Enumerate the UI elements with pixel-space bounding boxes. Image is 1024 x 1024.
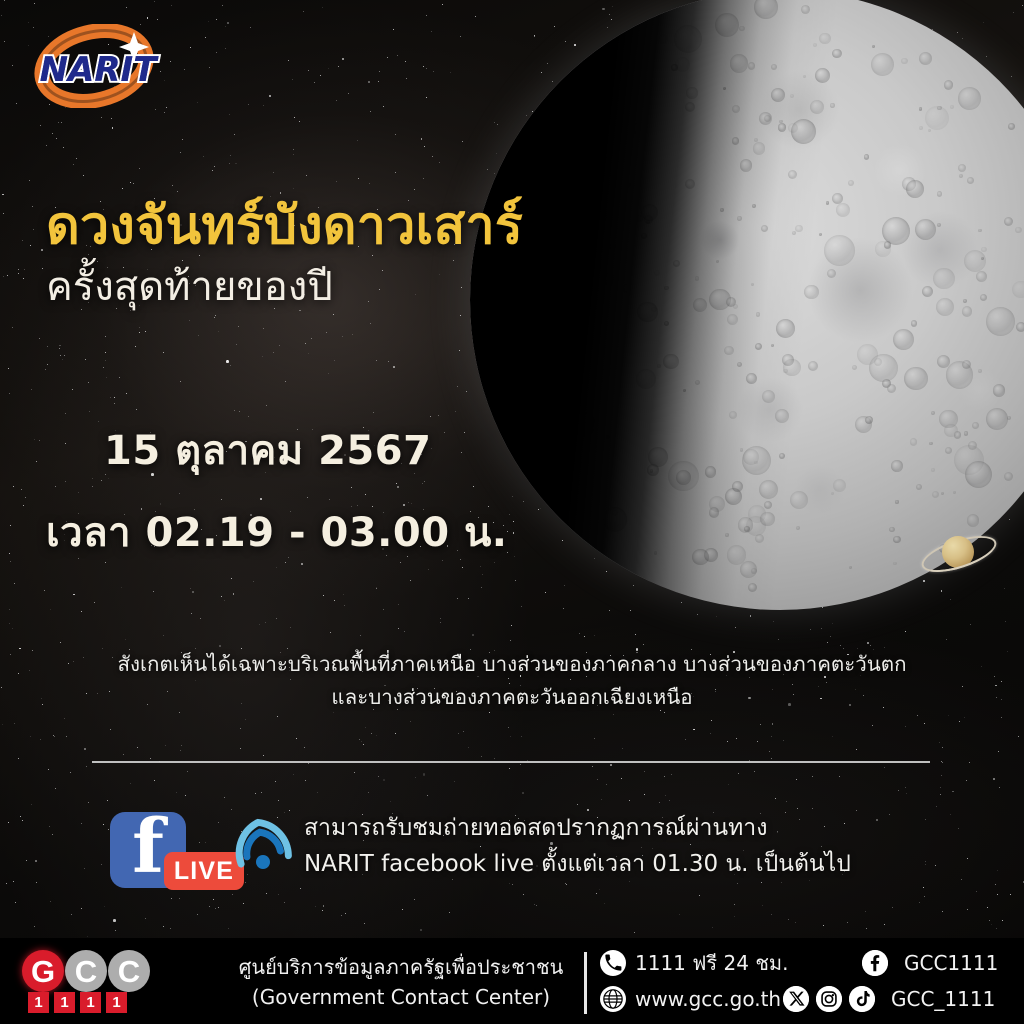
footer-center-text: ศูนย์บริการข้อมูลภาครัฐเพื่อประชาชน (Gov… [236,944,566,1024]
saturn-planet [920,522,994,580]
event-datetime-block: 15 ตุลาคม 2567 เวลา 02.19 - 03.00 น. [46,418,666,564]
footer-phone-row: 1111 ฟรี 24 ชม. [600,946,788,980]
page-title: ดวงจันทร์บังดาวเสาร์ [46,196,686,257]
footer-facebook-handle: GCC1111 [904,953,998,973]
facebook-icon[interactable] [862,950,888,976]
footer-website-text: www.gcc.go.th [635,989,781,1009]
gcc-letters-row: G C C [22,950,150,992]
svg-text:NARIT: NARIT [40,50,160,90]
instagram-icon[interactable] [816,986,842,1012]
footer-facebook-group: GCC1111 [862,946,998,980]
poster-root: NARIT NARIT ดวงจันทร์บังดาวเสาร์ ครั้งสุ… [0,0,1024,1024]
live-badge-label: LIVE [174,859,234,884]
visibility-line-2: และบางส่วนของภาคตะวันออกเฉียงเหนือ [62,681,962,714]
narit-logo-svg: NARIT NARIT [30,24,170,108]
live-text-line-2: NARIT facebook live ตั้งแต่เวลา 01.30 น.… [304,846,924,882]
x-twitter-icon[interactable] [783,986,809,1012]
live-text-line-1: สามารถรับชมถ่ายทอดสดปรากฏการณ์ผ่านทาง [304,810,924,846]
footer-contacts: 1111 ฟรี 24 ชม. GCC1111 www.gcc.go.th [600,944,1024,1020]
page-subtitle: ครั้งสุดท้ายของปี [46,263,686,311]
gcc-digit-4: 1 [106,992,127,1013]
footer-social-handle: GCC_1111 [891,989,995,1009]
gcc-digit-2: 1 [54,992,75,1013]
gcc-digit-3: 1 [80,992,101,1013]
footer-center-english: (Government Contact Center) [236,982,566,1012]
tiktok-icon[interactable] [849,986,875,1012]
gcc-digit-1: 1 [28,992,49,1013]
visibility-line-1: สังเกตเห็นได้เฉพาะบริเวณพื้นที่ภาคเหนือ … [62,648,962,681]
gcc-digits-row: 1 1 1 1 [28,992,127,1013]
live-text-block: สามารถรับชมถ่ายทอดสดปรากฏการณ์ผ่านทาง NA… [304,810,924,883]
event-time: เวลา 02.19 - 03.00 น. [46,500,666,564]
live-broadcast-row: f LIVE สามารถรับชมถ่ายทอดสดปรากฏการณ์ผ่า… [104,806,924,898]
gcc-letter-g: G [22,950,64,992]
globe-icon [600,986,626,1012]
gcc-letter-c2: C [108,950,150,992]
footer-phone-text: 1111 ฟรี 24 ชม. [635,953,788,973]
footer-social-group: GCC_1111 [783,982,995,1016]
broadcast-waves-icon [232,812,294,884]
gcc-logo: G C C 1 1 1 1 [22,950,152,1014]
footer-vertical-rule [584,952,587,1014]
visibility-note: สังเกตเห็นได้เฉพาะบริเวณพื้นที่ภาคเหนือ … [62,648,962,714]
section-divider [92,761,930,763]
event-date: 15 ตุลาคม 2567 [46,418,666,482]
footer-center-thai: ศูนย์บริการข้อมูลภาครัฐเพื่อประชาชน [236,952,566,982]
headline-block: ดวงจันทร์บังดาวเสาร์ ครั้งสุดท้ายของปี [46,196,686,311]
footer-website-row: www.gcc.go.th [600,982,781,1016]
gcc-letter-c1: C [65,950,107,992]
phone-icon [600,950,626,976]
narit-logo: NARIT NARIT [30,24,170,108]
